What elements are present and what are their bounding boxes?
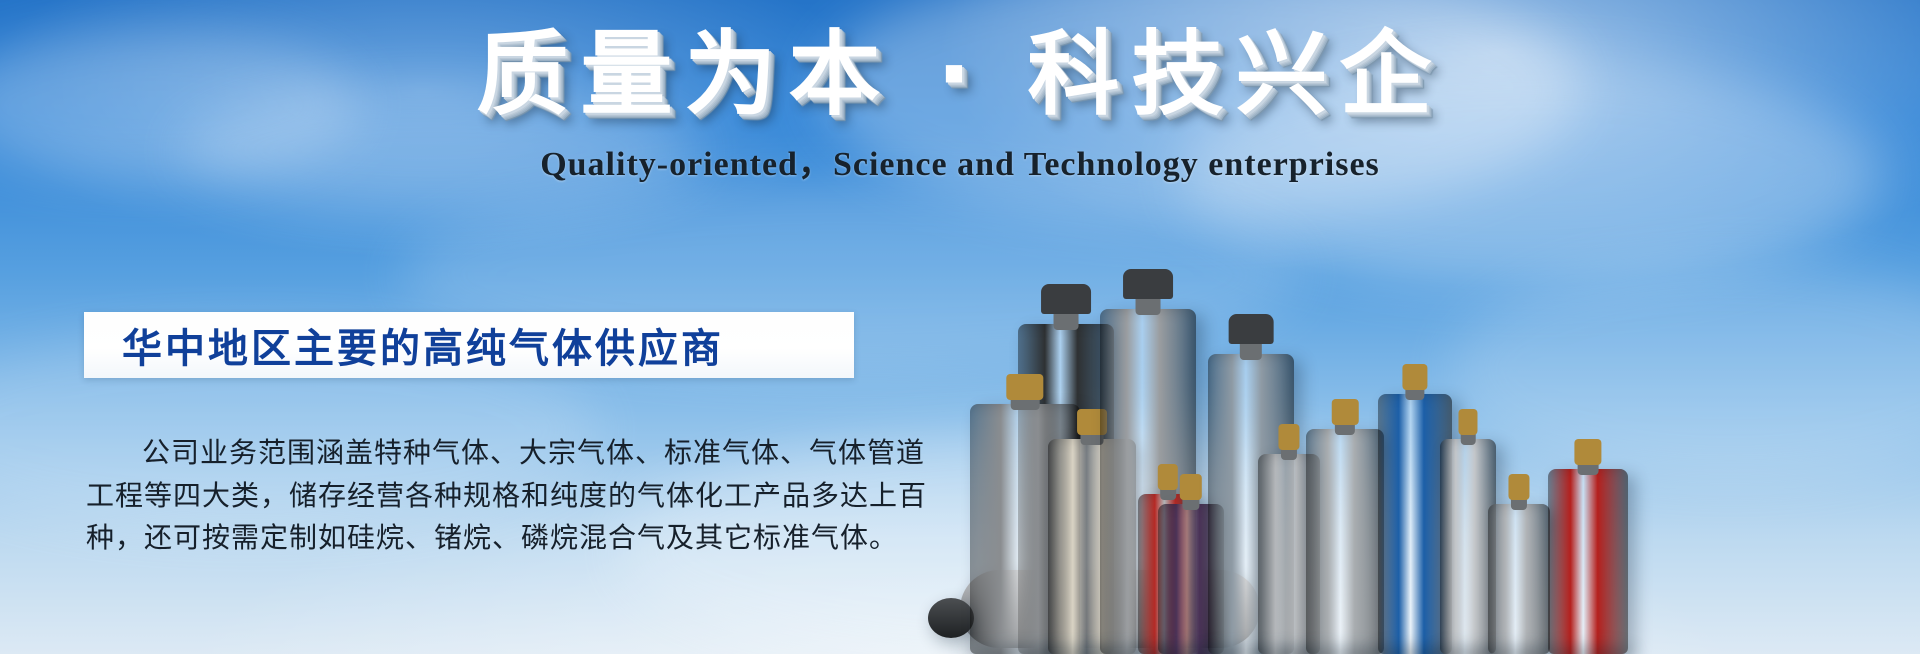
cylinder-shadow [1540, 644, 1636, 654]
cylinder-valve [1508, 474, 1529, 500]
cylinder-valve [1158, 464, 1178, 490]
cylinder-lying-valve [928, 598, 974, 638]
cylinder-valve [1006, 374, 1043, 400]
cylinder-cap [1041, 284, 1091, 314]
company-description: 公司业务范围涵盖特种气体、大宗气体、标准气体、气体管道 工程等四大类，储存经营各… [86, 432, 876, 560]
cylinder-valve [1332, 399, 1359, 425]
description-line: 种，还可按需定制如硅烷、锗烷、磷烷混合气及其它标准气体。 [86, 517, 876, 560]
cylinder-valve [1180, 474, 1202, 500]
description-line: 工程等四大类，储存经营各种规格和纯度的气体化工产品多达上百 [86, 475, 876, 518]
cylinder-cap [1123, 269, 1173, 299]
cylinder-valve [1574, 439, 1601, 465]
cylinder-valve [1458, 409, 1477, 435]
cylinder-red-large [1548, 469, 1628, 654]
cylinder-valve [1402, 364, 1427, 390]
gas-cylinder-group [940, 134, 1920, 654]
highlight-banner-box: 华中地区主要的高纯气体供应商 [84, 312, 854, 378]
highlight-banner-text: 华中地区主要的高纯气体供应商 [122, 316, 724, 374]
cylinder-valve [1278, 424, 1299, 450]
hero-banner: 质量为本 · 科技兴企 Quality-oriented，Science and… [0, 0, 1920, 654]
cylinder-cap [1229, 314, 1274, 344]
cylinder-silver-short [1488, 504, 1550, 654]
cylinder-green-cap [1306, 429, 1384, 654]
description-line: 公司业务范围涵盖特种气体、大宗气体、标准气体、气体管道 [86, 432, 876, 475]
banner-title: 质量为本 · 科技兴企 [0, 22, 1920, 128]
